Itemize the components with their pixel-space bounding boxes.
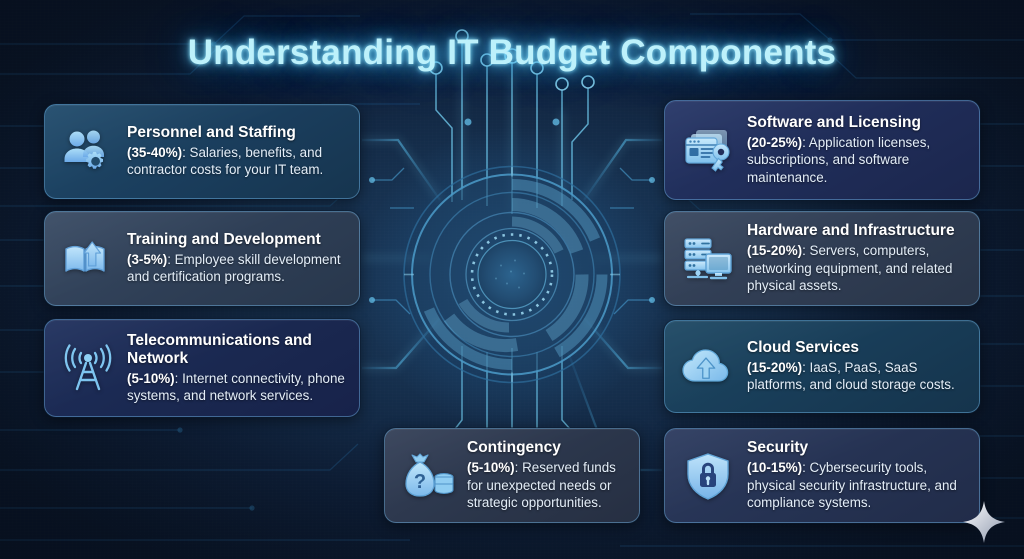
card-title: Cloud Services: [747, 339, 965, 357]
card-title: Training and Development: [127, 231, 345, 249]
card-description: (10-15%): Cybersecurity tools, physical …: [747, 459, 965, 511]
card-title: Contingency: [467, 439, 625, 457]
antenna-tower-icon: [59, 339, 117, 397]
card-training[interactable]: Training and Development (3-5%): Employe…: [44, 211, 360, 306]
card-description: (3-5%): Employee skill development and c…: [127, 251, 345, 286]
card-title: Security: [747, 439, 965, 457]
card-body: Telecommunications and Network (5-10%): …: [127, 332, 345, 405]
shield-lock-icon: [679, 447, 737, 505]
card-hardware[interactable]: Hardware and Infrastructure (15-20%): Se…: [664, 211, 980, 306]
card-body: Hardware and Infrastructure (15-20%): Se…: [747, 222, 965, 294]
card-title: Software and Licensing: [747, 114, 965, 132]
card-body: Training and Development (3-5%): Employe…: [127, 231, 345, 286]
sparkle-icon: [962, 500, 1006, 544]
card-percent: (35-40%): [127, 145, 182, 160]
card-body: Contingency (5-10%): Reserved funds for …: [467, 439, 625, 511]
people-gear-icon: [59, 123, 117, 181]
card-description: (15-20%): IaaS, PaaS, SaaS platforms, an…: [747, 359, 965, 394]
server-monitor-icon: [679, 230, 737, 288]
svg-text:?: ?: [414, 471, 426, 493]
card-percent: (10-15%): [747, 460, 802, 475]
card-percent: (15-20%): [747, 243, 802, 258]
card-title: Telecommunications and Network: [127, 332, 345, 368]
card-software[interactable]: Software and Licensing (20-25%): Applica…: [664, 100, 980, 200]
card-body: Cloud Services (15-20%): IaaS, PaaS, Saa…: [747, 339, 965, 394]
card-description: (20-25%): Application licenses, subscrip…: [747, 134, 965, 186]
card-personnel[interactable]: Personnel and Staffing (35-40%): Salarie…: [44, 104, 360, 199]
cloud-upload-icon: [679, 338, 737, 396]
page-title: Understanding IT Budget Components: [0, 33, 1024, 73]
card-percent: (5-10%): [467, 460, 515, 475]
card-cloud[interactable]: Cloud Services (15-20%): IaaS, PaaS, Saa…: [664, 320, 980, 413]
card-description: (35-40%): Salaries, benefits, and contra…: [127, 144, 345, 179]
windows-key-icon: [679, 121, 737, 179]
card-telecom[interactable]: Telecommunications and Network (5-10%): …: [44, 319, 360, 417]
card-description: (5-10%): Reserved funds for unexpected n…: [467, 459, 625, 511]
card-description: (5-10%): Internet connectivity, phone sy…: [127, 370, 345, 405]
card-percent: (20-25%): [747, 135, 802, 150]
card-title: Personnel and Staffing: [127, 124, 345, 142]
open-book-arrow-icon: [59, 230, 117, 288]
card-body: Personnel and Staffing (35-40%): Salarie…: [127, 124, 345, 179]
infographic-canvas: Understanding IT Budget Components: [0, 0, 1024, 559]
card-contingency[interactable]: ? Contingency (5-10%): Reserved funds fo…: [384, 428, 640, 523]
card-percent: (3-5%): [127, 252, 167, 267]
card-security[interactable]: Security (10-15%): Cybersecurity tools, …: [664, 428, 980, 523]
card-body: Security (10-15%): Cybersecurity tools, …: [747, 439, 965, 511]
card-percent: (15-20%): [747, 360, 802, 375]
card-description: (15-20%): Servers, computers, networking…: [747, 242, 965, 294]
card-percent: (5-10%): [127, 371, 175, 386]
central-tech-hub: [397, 160, 627, 395]
card-title: Hardware and Infrastructure: [747, 222, 965, 240]
money-bag-question-icon: ?: [399, 447, 457, 505]
card-body: Software and Licensing (20-25%): Applica…: [747, 114, 965, 186]
